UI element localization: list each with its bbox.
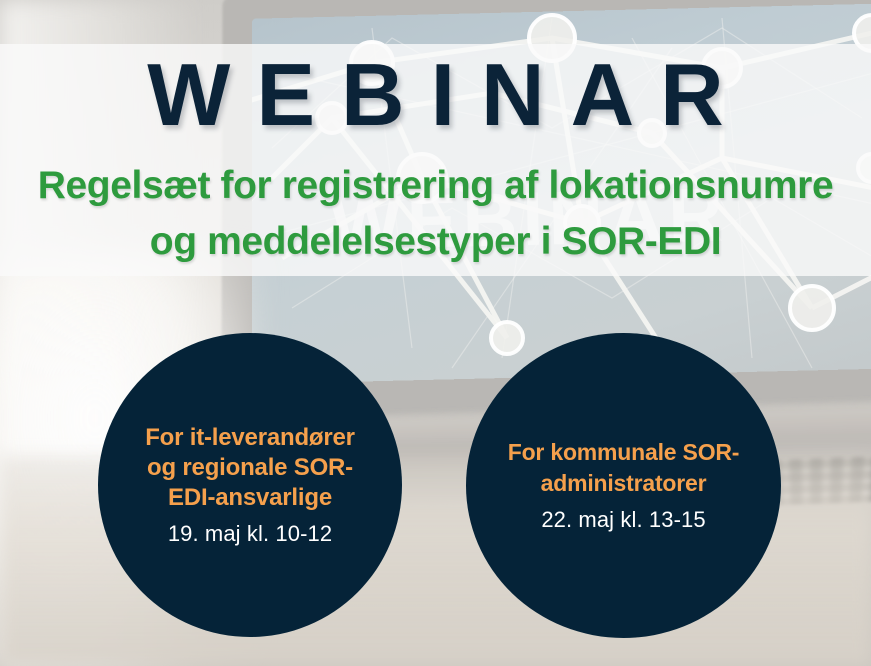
session-1-audience: For it-leverandører og regionale SOR- ED… <box>145 423 355 513</box>
session-1-audience-line-1: For it-leverandører <box>145 424 355 451</box>
session-2-datetime: 22. maj kl. 13-15 <box>541 506 705 534</box>
session-circle-2: For kommunale SOR- administratorer 22. m… <box>466 333 781 638</box>
session-circle-1: For it-leverandører og regionale SOR- ED… <box>98 333 402 637</box>
session-1-datetime: 19. maj kl. 10-12 <box>168 520 332 548</box>
page-title: WEBINAR <box>0 47 871 143</box>
session-2-audience-line-2: administratorer <box>541 470 707 496</box>
webinar-poster: WEBINAR <box>0 0 871 666</box>
page-subtitle-line-1: Regelsæt for registrering af lokationsnu… <box>38 164 833 207</box>
page-subtitle: Regelsæt for registrering af lokationsnu… <box>0 158 871 270</box>
session-1-audience-line-2: og regionale SOR- <box>147 454 353 481</box>
session-2-audience: For kommunale SOR- administratorer <box>508 437 740 499</box>
session-2-audience-line-1: For kommunale SOR- <box>508 439 740 465</box>
page-subtitle-line-2: og meddelelsestyper i SOR-EDI <box>0 214 871 270</box>
session-1-audience-line-3: EDI-ansvarlige <box>168 484 332 511</box>
